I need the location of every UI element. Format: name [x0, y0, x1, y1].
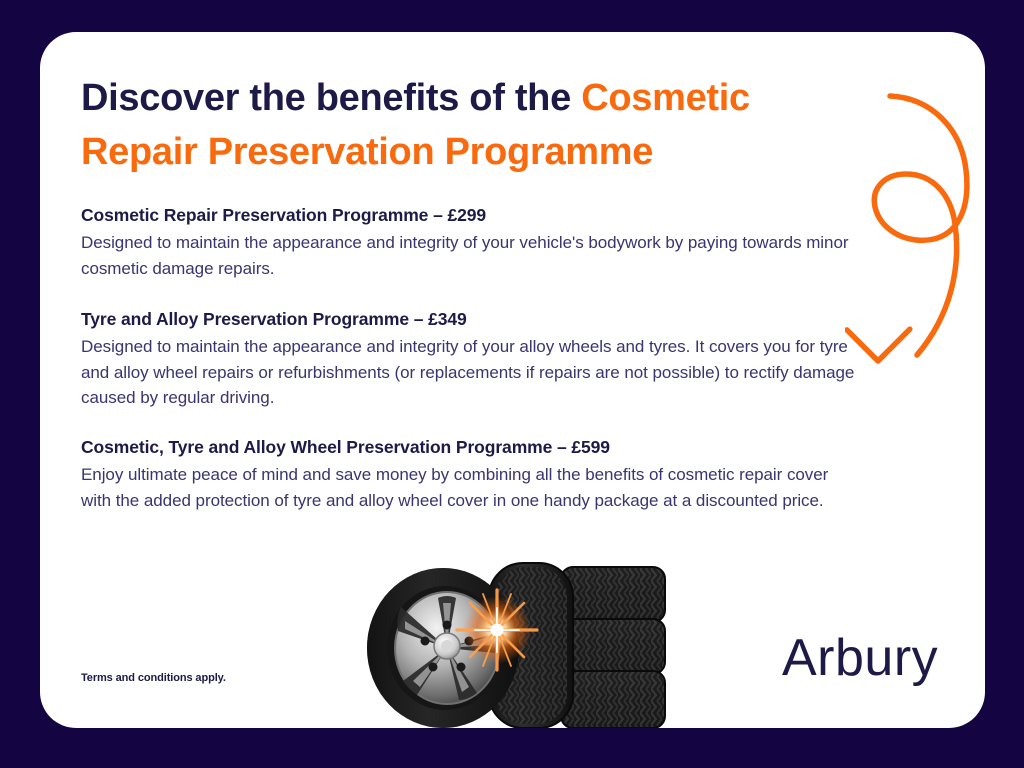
programme-section-tyre-and-alloy: Tyre and Alloy Preservation Programme – … [81, 308, 861, 411]
headline-plain-text: Discover the benefits of the [81, 77, 581, 119]
tyre-stack-back [561, 567, 665, 728]
headline-accent-line1: Cosmetic [581, 77, 750, 119]
section-title: Cosmetic, Tyre and Alloy Wheel Preservat… [81, 436, 856, 459]
section-title: Cosmetic Repair Preservation Programme –… [81, 204, 856, 227]
page-title: Discover the benefits of the Cosmetic Re… [81, 72, 841, 180]
headline-accent-line2: Repair Preservation Programme [81, 131, 653, 173]
content-card: Discover the benefits of the Cosmetic Re… [40, 32, 985, 728]
programme-section-cosmetic-repair: Cosmetic Repair Preservation Programme –… [81, 204, 856, 281]
section-body: Enjoy ultimate peace of mind and save mo… [81, 462, 856, 514]
curly-down-arrow-icon [845, 84, 985, 394]
terms-and-conditions-note: Terms and conditions apply. [81, 672, 226, 684]
section-title: Tyre and Alloy Preservation Programme – … [81, 308, 861, 331]
programme-section-cosmetic-tyre-alloy: Cosmetic, Tyre and Alloy Wheel Preservat… [81, 436, 856, 513]
arbury-logo: Arbury [782, 632, 938, 684]
section-body: Designed to maintain the appearance and … [81, 334, 861, 411]
stacked-tyres-image [365, 545, 685, 728]
section-body: Designed to maintain the appearance and … [81, 230, 856, 282]
poster-canvas: Discover the benefits of the Cosmetic Re… [0, 0, 1024, 768]
